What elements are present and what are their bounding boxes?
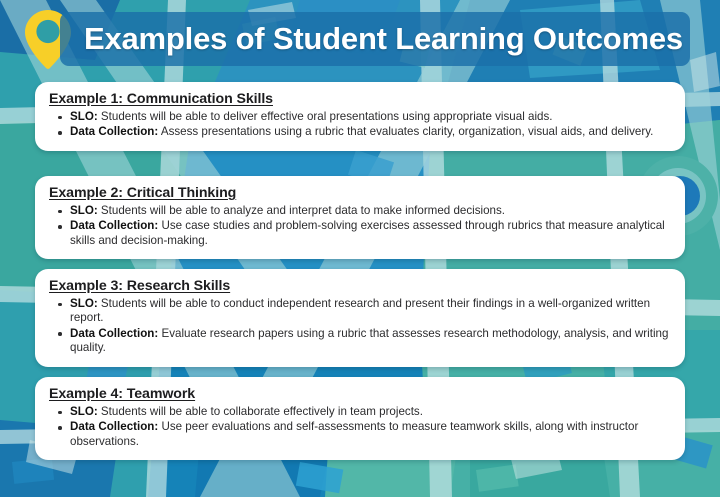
bullet-label: SLO: [70, 204, 98, 217]
card-title: Example 2: Critical Thinking [49, 185, 671, 201]
list-item: Data Collection: Assess presentations us… [70, 125, 671, 139]
bullet-list: SLO: Students will be able to collaborat… [49, 405, 671, 449]
bullet-label: SLO: [70, 110, 98, 123]
bullet-list: SLO: Students will be able to deliver ef… [49, 110, 671, 140]
example-card-2: Example 2: Critical Thinking SLO: Studen… [35, 176, 685, 259]
list-item: SLO: Students will be able to collaborat… [70, 405, 671, 419]
list-item: Data Collection: Use peer evaluations an… [70, 420, 671, 449]
bullet-text: Assess presentations using a rubric that… [158, 125, 653, 138]
list-item: SLO: Students will be able to analyze an… [70, 204, 671, 218]
list-item: Data Collection: Evaluate research paper… [70, 327, 671, 356]
bullet-list: SLO: Students will be able to analyze an… [49, 204, 671, 248]
bullet-label: Data Collection: [70, 420, 158, 433]
list-item: Data Collection: Use case studies and pr… [70, 219, 671, 248]
example-card-4: Example 4: Teamwork SLO: Students will b… [35, 377, 685, 460]
page-title: Examples of Student Learning Outcomes [84, 16, 684, 62]
card-title: Example 3: Research Skills [49, 278, 671, 294]
bullet-text: Students will be able to deliver effecti… [98, 110, 553, 123]
card-title: Example 4: Teamwork [49, 386, 671, 402]
bullet-label: Data Collection: [70, 125, 158, 138]
list-item: SLO: Students will be able to conduct in… [70, 297, 671, 326]
example-card-3: Example 3: Research Skills SLO: Students… [35, 269, 685, 367]
bullet-text: Students will be able to analyze and int… [98, 204, 505, 217]
bullet-label: Data Collection: [70, 219, 158, 232]
bullet-label: Data Collection: [70, 327, 158, 340]
bullet-text: Use case studies and problem-solving exe… [70, 219, 665, 246]
list-item: SLO: Students will be able to deliver ef… [70, 110, 671, 124]
card-title: Example 1: Communication Skills [49, 91, 671, 107]
bullet-label: SLO: [70, 405, 98, 418]
example-card-1: Example 1: Communication Skills SLO: Stu… [35, 82, 685, 151]
bullet-list: SLO: Students will be able to conduct in… [49, 297, 671, 356]
bullet-text: Evaluate research papers using a rubric … [70, 327, 668, 354]
header: Examples of Student Learning Outcomes [0, 0, 720, 76]
bullet-label: SLO: [70, 297, 98, 310]
infographic-canvas: Examples of Student Learning Outcomes Ex… [0, 0, 720, 497]
bullet-text: Students will be able to collaborate eff… [98, 405, 423, 418]
bullet-text: Students will be able to conduct indepen… [70, 297, 650, 324]
